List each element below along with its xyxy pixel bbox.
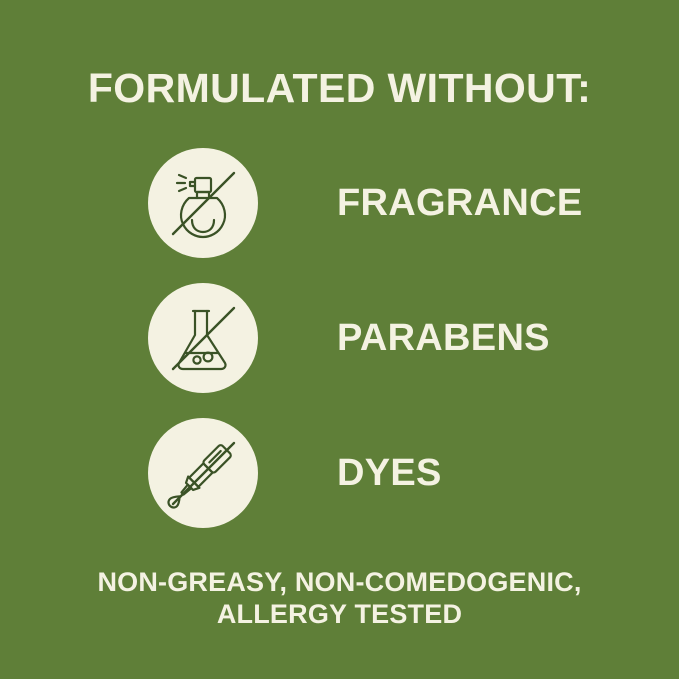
list-item-label: DYES (337, 454, 442, 492)
footer-claims: NON-GREASY, NON-COMEDOGENIC, ALLERGY TES… (0, 567, 679, 631)
page-title: FORMULATED WITHOUT: (0, 68, 679, 109)
list-item-label: PARABENS (337, 319, 550, 357)
no-dropper-icon (148, 418, 258, 528)
claims-list: FRAGRANCE (148, 148, 628, 528)
list-item: PARABENS (148, 283, 628, 393)
no-flask-icon (148, 283, 258, 393)
footer-line-2: ALLERGY TESTED (0, 599, 679, 631)
list-item: DYES (148, 418, 628, 528)
formulated-without-panel: FORMULATED WITHOUT: (0, 0, 679, 679)
footer-line-1: NON-GREASY, NON-COMEDOGENIC, (0, 567, 679, 599)
list-item-label: FRAGRANCE (337, 184, 582, 222)
no-perfume-bottle-icon (148, 148, 258, 258)
list-item: FRAGRANCE (148, 148, 628, 258)
